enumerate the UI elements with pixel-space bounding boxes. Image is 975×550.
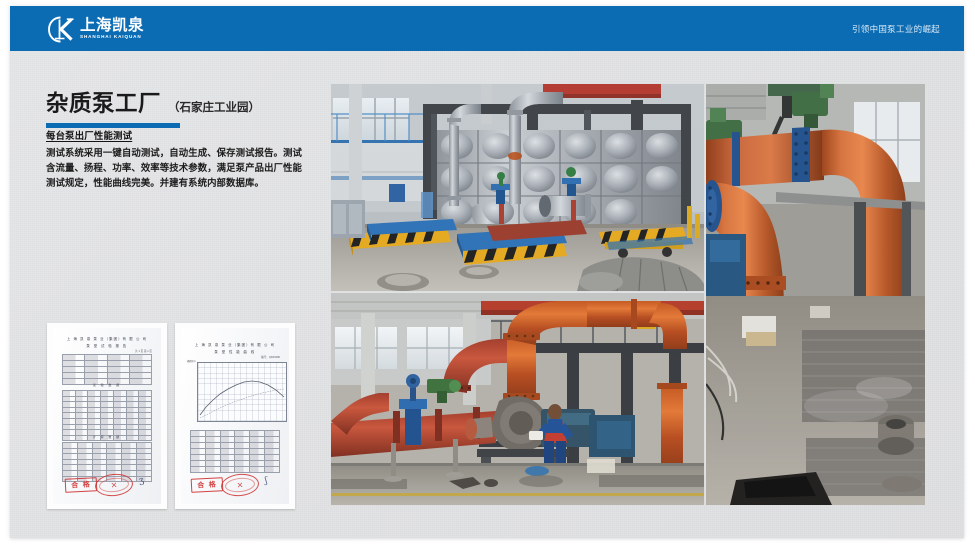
document-title-line2: 泵 型 性 能 曲 线 [181,349,289,354]
brand-logo-text: 上海凯泉 SHANGHAI KAIQUAN [80,18,144,40]
document-section1-label: 试 验 数 据 [53,383,161,387]
document-title: 上 海 凯 泉 泵 业（集团）有 限 公 司 泵 型 试 验 报 告 [53,336,161,348]
document-sheet: 上 海 凯 泉 泵 业（集团）有 限 公 司 泵 型 试 验 报 告 共 1 页… [53,328,161,504]
description-heading: 每台泵出厂性能测试 [46,128,302,142]
document-title-line2: 泵 型 试 验 报 告 [53,343,161,348]
document-curve-data-table [190,430,280,473]
photo-collage [331,84,925,505]
document-section2-label: 计 算 数 据 [53,435,161,439]
document-info-table [62,354,152,385]
document-sheet: 上 海 凯 泉 泵 业（集团）有 限 公 司 泵 型 性 能 曲 线 编号：QD… [181,328,289,504]
slide-root: 上海凯泉 SHANGHAI KAIQUAN 引领中国泵工业的崛起 杂质泵工厂 （… [0,0,975,550]
document-card-test-report[interactable]: 上 海 凯 泉 泵 业（集团）有 限 公 司 泵 型 试 验 报 告 共 1 页… [47,323,167,509]
document-meta: 编号：QD00280 [261,355,280,359]
header-slogan: 引领中国泵工业的崛起 [852,6,940,51]
photo-pump-test-loop-orange-pipes-worker[interactable] [331,293,704,505]
kaiquan-k-mark-icon [47,16,75,43]
signature-mark: ʃ [264,476,268,486]
document-card-performance-curve[interactable]: 上 海 凯 泉 泵 业（集团）有 限 公 司 泵 型 性 能 曲 线 编号：QD… [175,323,295,509]
photo-pump-test-bay-water-tanks[interactable] [331,84,704,291]
document-title: 上 海 凯 泉 泵 业（集团）有 限 公 司 泵 型 性 能 曲 线 [181,342,289,354]
page-title-row: 杂质泵工厂 （石家庄工业园） [46,86,316,118]
document-title-line1: 上 海 凯 泉 泵 业（集团）有 限 公 司 [67,337,147,341]
document-test-data-table [62,390,152,441]
page-subtitle: （石家庄工业园） [168,99,260,115]
brand-logo[interactable]: 上海凯泉 SHANGHAI KAIQUAN [47,15,144,43]
description-paragraph: 测试系统采用一键自动测试，自动生成、保存测试报告。测试含流量、扬程、功率、效率等… [46,146,302,192]
photo-large-orange-pipe-bends-test-pit[interactable] [706,84,925,505]
description-block: 每台泵出厂性能测试 测试系统采用一键自动测试，自动生成、保存测试报告。测试含流量… [46,128,302,192]
table-row [191,467,280,473]
status-badge-qualified-stamp: 合 格 [65,477,98,493]
document-title-line1: 上 海 凯 泉 泵 业（集团）有 限 公 司 [195,343,275,347]
performance-curve-chart [197,362,287,422]
page-title-block: 杂质泵工厂 （石家庄工业园） [46,86,316,128]
brand-name-en: SHANGHAI KAIQUAN [80,35,144,40]
document-meta: 共 1 页 第 1 页 [135,349,152,353]
brand-name-cn: 上海凯泉 [80,18,144,34]
red-oval-seal-icon [220,472,260,498]
page-header-bar: 上海凯泉 SHANGHAI KAIQUAN 引领中国泵工业的崛起 [10,6,964,51]
document-thumbnails: 上 海 凯 泉 泵 业（集团）有 限 公 司 泵 型 试 验 报 告 共 1 页… [47,323,302,509]
chart-y-axis-label: 扬程(m) [187,359,195,363]
status-badge-qualified-stamp: 合 格 [191,477,224,493]
page-title: 杂质泵工厂 [46,86,161,118]
